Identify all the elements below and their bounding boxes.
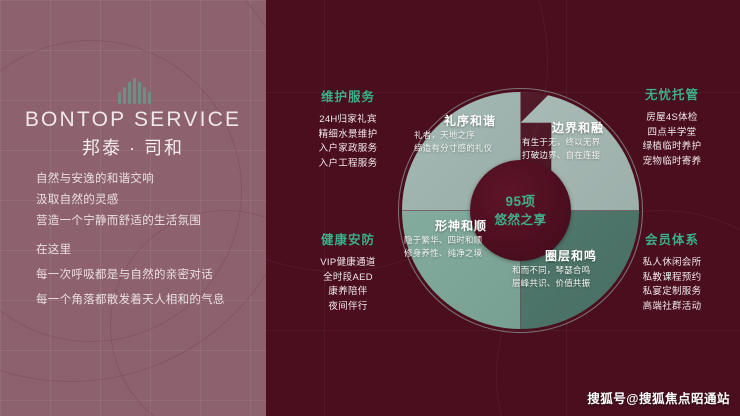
service-item: 入户家政服务 <box>298 142 398 157</box>
intro-line: 汲取自然的灵感 <box>36 193 256 207</box>
intro-line: 在这里 <box>36 243 256 257</box>
quadrant-line: 隐于繁华、四时和顺 <box>404 234 516 247</box>
paragraph-spacer <box>36 235 256 243</box>
service-item: 夜间伴行 <box>298 300 398 315</box>
slide-root: BONTOP SERVICE 邦泰 · 司和 自然与安逸的和谐交响 汲取自然的灵… <box>0 0 740 416</box>
service-item: 精细水景维护 <box>298 128 398 143</box>
service-group-maintenance: 维护服务 24H归家礼宾 精细水景维护 入户家政服务 入户工程服务 <box>298 86 398 171</box>
vertical-bars-logo-icon <box>118 74 151 104</box>
quadrant-label-bottom-right: 圈层和鸣 和而不同，琴瑟合鸣 层峰共识、价值共振 <box>512 248 626 290</box>
intro-line: 每一个角落都散发着天人相和的气息 <box>36 293 256 307</box>
service-item: 24H归家礼宾 <box>298 113 398 128</box>
brand-name-english: BONTOP SERVICE <box>0 108 266 132</box>
service-item: 入户工程服务 <box>298 157 398 172</box>
quadrant-line: 打破边界、自在连接 <box>522 149 630 162</box>
brand-name-chinese: 邦泰 · 司和 <box>0 134 266 160</box>
service-group-title: 健康安防 <box>298 229 398 248</box>
service-group-health: 健康安防 VIP健康通道 全时段AED 康养陪伴 夜间伴行 <box>298 229 398 314</box>
quadrant-label-top-right: 边界和融 有生于无，终以无界 打破边界、自在连接 <box>522 120 630 162</box>
intro-line: 每一次呼吸都是与自然的亲密对话 <box>36 268 256 282</box>
quadrant-label-bottom-left: 形神和顺 隐于繁华、四时和顺 修身养性、纯净之境 <box>404 218 516 260</box>
quadrant-title: 形神和顺 <box>404 218 516 234</box>
quadrant-line: 缔造有分寸感的礼仪 <box>414 142 524 155</box>
quadrant-line: 礼者，天地之序 <box>414 129 524 142</box>
quadrant-title: 礼序和谐 <box>414 113 524 129</box>
quadrant-line: 和而不同，琴瑟合鸣 <box>512 264 626 277</box>
intro-line: 营造一个宁静而舒适的生活氛围 <box>36 214 256 228</box>
quadrant-line: 有生于无，终以无界 <box>522 136 630 149</box>
watermark: 搜狐号@搜狐焦点昭通站 <box>587 388 730 407</box>
quadrant-line: 修身养性、纯净之境 <box>404 247 516 260</box>
service-item: 全时段AED <box>298 271 398 286</box>
service-group-title: 维护服务 <box>298 86 398 105</box>
intro-line: 自然与安逸的和谐交响 <box>36 172 256 186</box>
intro-text-block: 自然与安逸的和谐交响 汲取自然的灵感 营造一个宁静而舒适的生活氛围 在这里 每一… <box>36 172 256 314</box>
quadrant-line: 层峰共识、价值共振 <box>512 277 626 290</box>
service-item: VIP健康通道 <box>298 256 398 271</box>
quadrant-label-top-left: 礼序和谐 礼者，天地之序 缔造有分寸感的礼仪 <box>414 113 524 155</box>
service-item: 康养陪伴 <box>298 285 398 300</box>
center-count: 95项 <box>505 193 535 211</box>
quadrant-title: 边界和融 <box>522 120 630 136</box>
quadrant-title: 圈层和鸣 <box>512 248 626 264</box>
